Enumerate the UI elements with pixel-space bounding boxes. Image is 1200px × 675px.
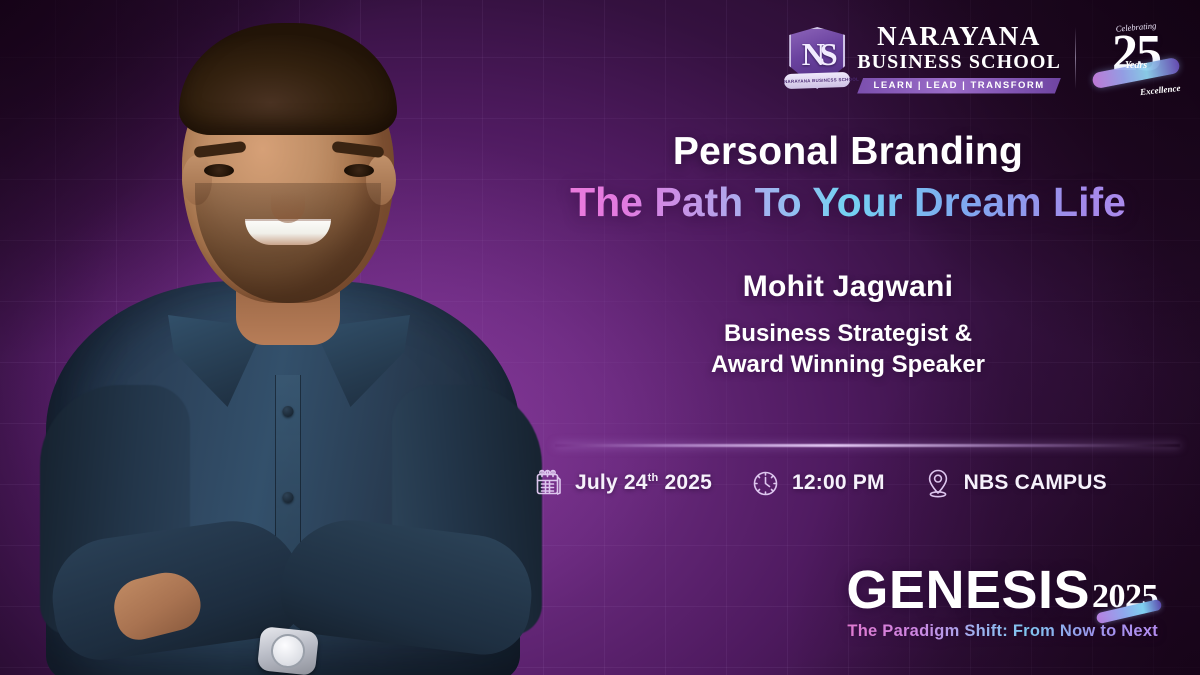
speaker-nose <box>271 179 305 223</box>
nbs-wordmark: NARAYANA BUSINESS SCHOOL LEARN | LEAD | … <box>857 23 1061 94</box>
shield-scroll-text: NARAYANA BUSINESS SCHOOL <box>784 72 850 89</box>
detail-date-text: July 24th 2025 <box>575 471 712 495</box>
anniversary-years-label: Years <box>1125 60 1147 71</box>
speaker-name: Mohit Jagwani <box>520 270 1176 304</box>
nbs-name-line1: NARAYANA <box>877 23 1041 50</box>
nbs-logo: NS NARAYANA BUSINESS SCHOOL NARAYANA BUS… <box>789 23 1061 94</box>
speaker-role: Business Strategist & Award Winning Spea… <box>520 318 1176 381</box>
genesis-wordmark: GENESIS <box>846 566 1090 616</box>
session-title: Personal Branding <box>520 130 1176 174</box>
speaker-role-line2: Award Winning Speaker <box>711 351 985 378</box>
speaker-hair <box>179 23 397 135</box>
clock-icon <box>752 470 779 497</box>
nbs-tagline-ribbon: LEARN | LEAD | TRANSFORM <box>857 78 1061 94</box>
date-ordinal-suffix: th <box>648 472 659 484</box>
detail-date: July 24th 2025 <box>535 469 712 497</box>
logo-divider <box>1075 27 1076 89</box>
speaker-role-line1: Business Strategist & <box>724 320 972 347</box>
date-year: 2025 <box>664 471 712 494</box>
detail-time: 12:00 PM <box>752 470 885 497</box>
detail-venue: NBS CAMPUS <box>925 468 1107 498</box>
nbs-tagline-text: LEARN | LEAD | TRANSFORM <box>866 80 1052 91</box>
anniversary-mark: Celebrating 25 Years Excellence <box>1090 22 1182 94</box>
date-prefix: July 24 <box>575 471 648 494</box>
shirt-button <box>283 406 294 417</box>
shirt-button <box>283 492 294 503</box>
section-divider <box>555 444 1180 447</box>
genesis-title-row: GENESIS 2025 <box>846 566 1158 616</box>
session-subtitle: The Path To Your Dream Life <box>520 180 1176 226</box>
brand-logo-lockup: NS NARAYANA BUSINESS SCHOOL NARAYANA BUS… <box>789 22 1182 94</box>
shield-scroll-banner: NARAYANA BUSINESS SCHOOL <box>784 72 850 89</box>
detail-time-text: 12:00 PM <box>792 471 885 495</box>
event-poster: NS NARAYANA BUSINESS SCHOOL NARAYANA BUS… <box>0 0 1200 675</box>
speaker-photo <box>18 15 558 675</box>
nbs-name-line2: BUSINESS SCHOOL <box>857 50 1061 75</box>
speaker-wristwatch <box>257 626 319 675</box>
event-details-row: July 24th 2025 12:00 PM <box>535 468 1172 498</box>
poster-content: Personal Branding The Path To Your Dream… <box>520 130 1176 381</box>
detail-venue-text: NBS CAMPUS <box>964 471 1107 495</box>
genesis-tagline: The Paradigm Shift: From Now to Next <box>846 622 1158 641</box>
calendar-icon <box>535 469 562 497</box>
genesis-year: 2025 <box>1092 580 1158 616</box>
speaker-eye-right <box>344 164 374 177</box>
genesis-event-logo: GENESIS 2025 The Paradigm Shift: From No… <box>846 566 1158 641</box>
location-pin-icon <box>925 468 951 498</box>
nbs-shield-icon: NS NARAYANA BUSINESS SCHOOL <box>789 27 845 89</box>
speaker-eye-left <box>204 164 234 177</box>
